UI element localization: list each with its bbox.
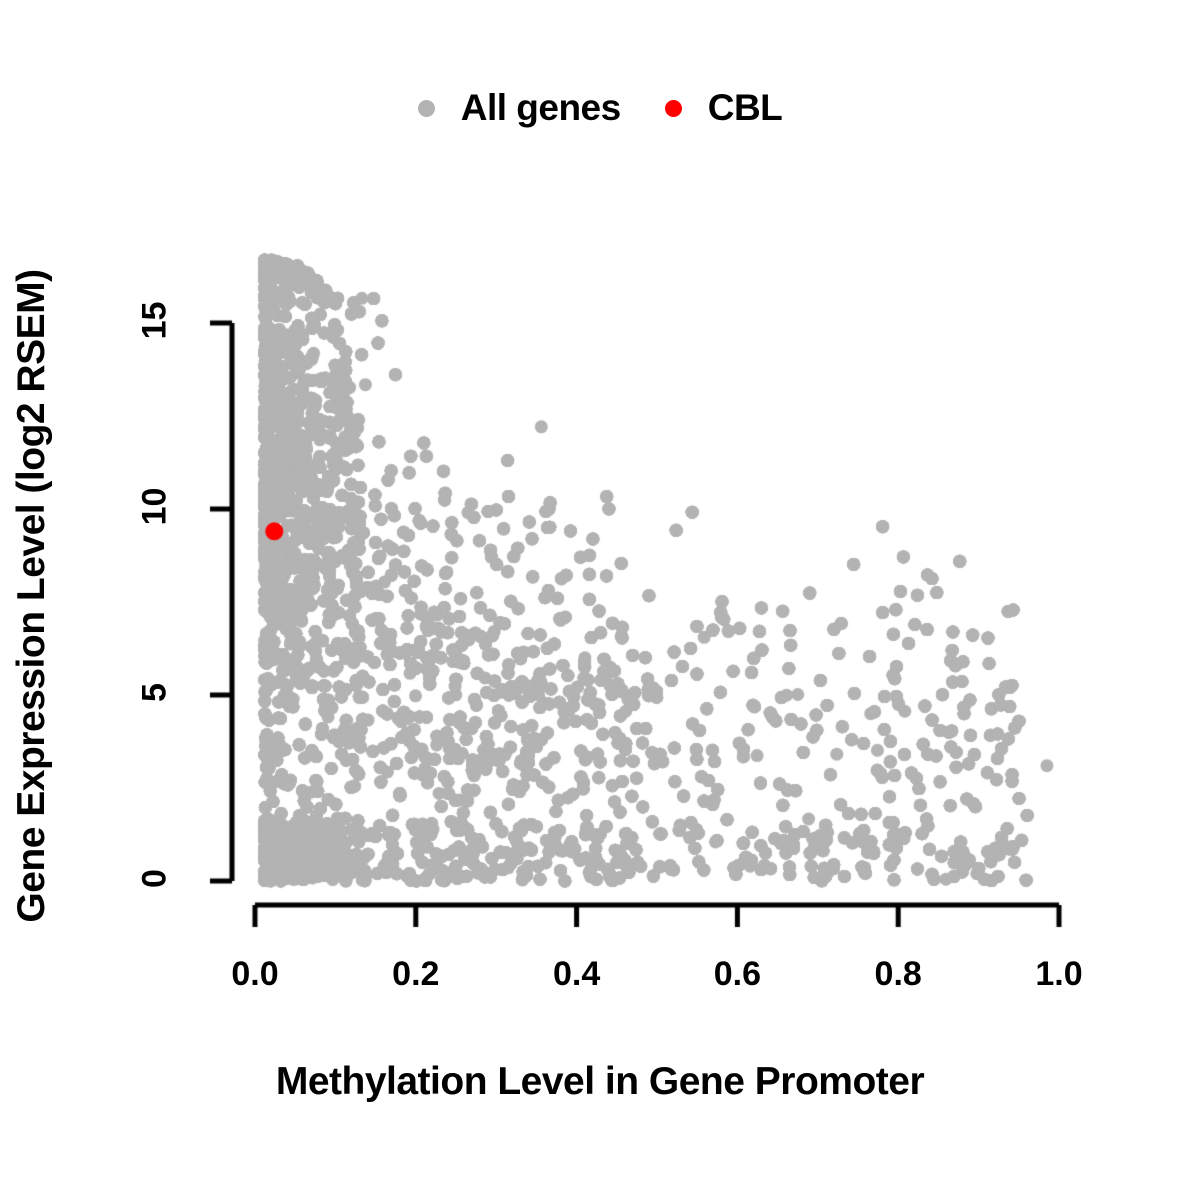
x-axis-title: Methylation Level in Gene Promoter xyxy=(0,1060,1200,1104)
scatter-plot-canvas xyxy=(0,0,1200,1200)
x-tick-label-3: 0.6 xyxy=(714,955,761,994)
y-axis-title: Gene Expression Level (log2 RSEM) xyxy=(10,269,54,922)
x-tick-label-5: 1.0 xyxy=(1035,955,1082,994)
y-tick-label-3: 15 xyxy=(136,281,175,361)
y-tick-label-0: 0 xyxy=(136,839,175,919)
y-tick-label-1: 5 xyxy=(136,653,175,733)
x-tick-label-4: 0.8 xyxy=(875,955,922,994)
x-tick-label-1: 0.2 xyxy=(392,955,439,994)
x-tick-label-0: 0.0 xyxy=(231,955,278,994)
x-tick-label-2: 0.4 xyxy=(553,955,600,994)
y-tick-label-2: 10 xyxy=(136,467,175,547)
y-axis-title-wrapper: Gene Expression Level (log2 RSEM) xyxy=(0,0,64,1200)
scatter-plot-figure: All genes CBL Methylation Level in Gene … xyxy=(0,0,1200,1200)
